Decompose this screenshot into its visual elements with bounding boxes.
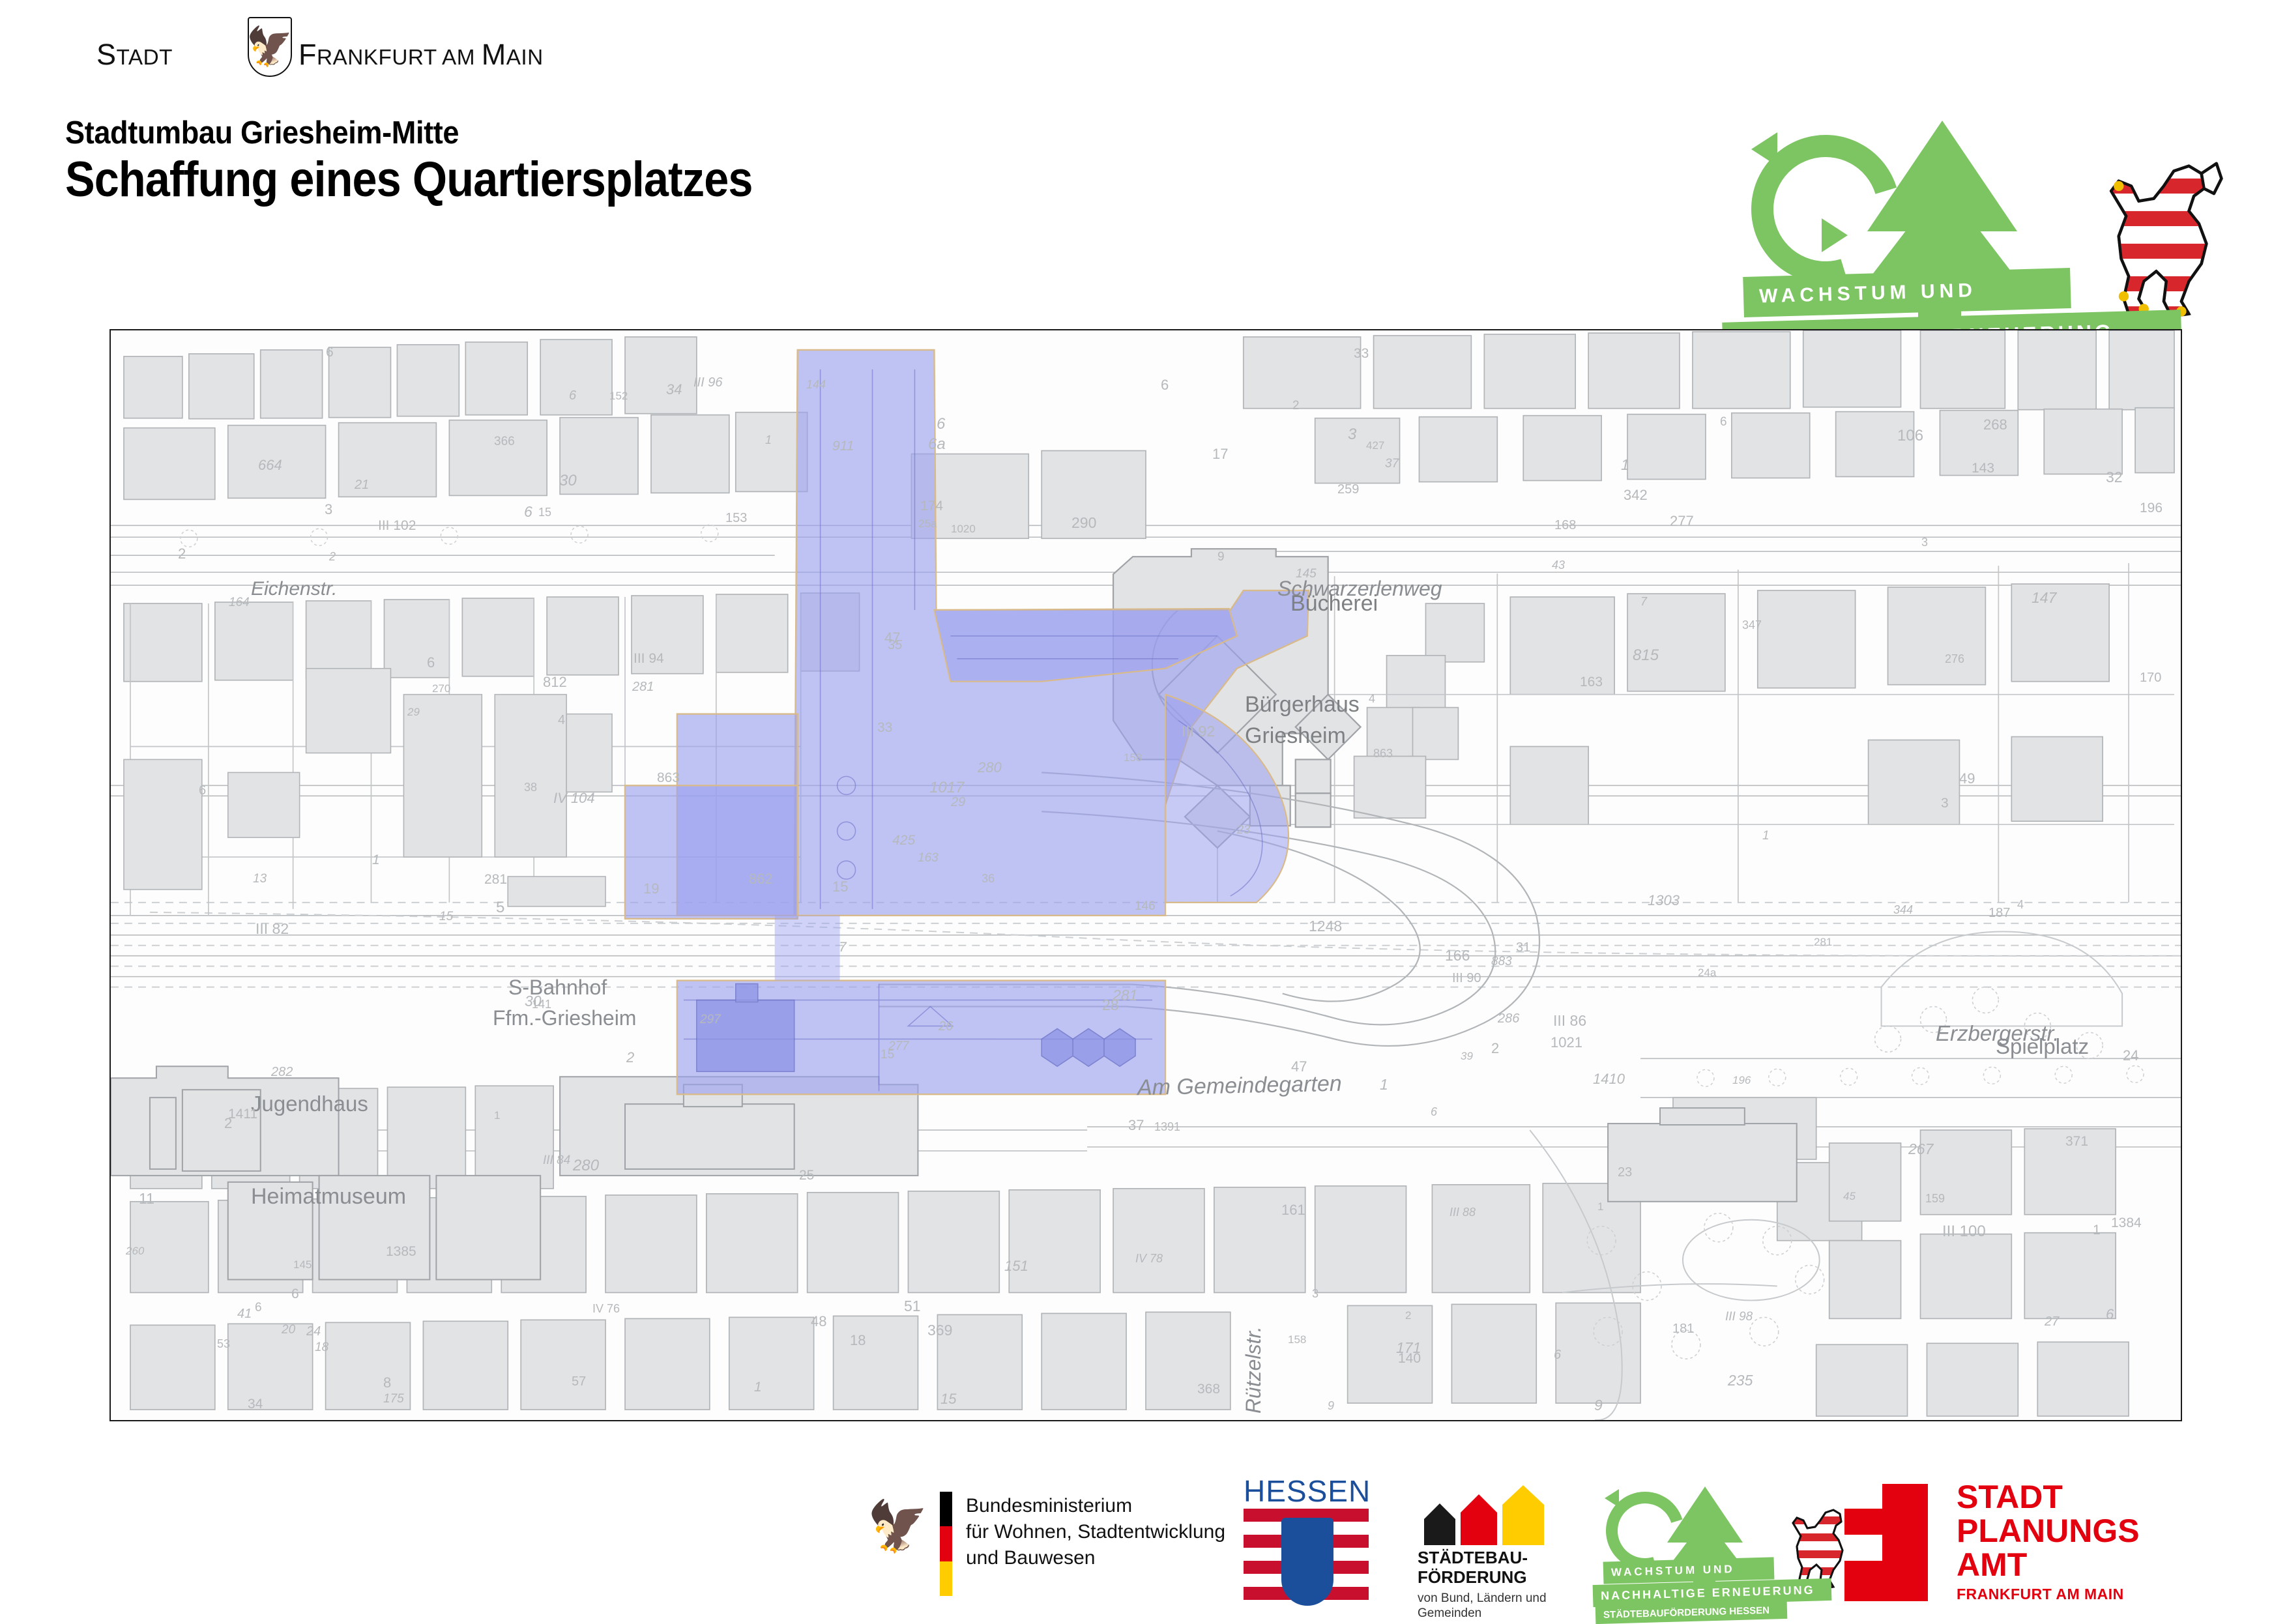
page-title: Schaffung eines Quartiersplatzes — [65, 151, 753, 208]
bundesadler-icon: 🦅 — [867, 1494, 925, 1559]
staedtebau-sub2: Gemeinden — [1418, 1606, 1481, 1620]
funding-logo-bar: 🦅 Bundesministerium für Wohnen, Stadtent… — [0, 1470, 2287, 1616]
city-of-frankfurt-logo: STADT 🦅 FRANKFURT AM MAIN — [96, 34, 514, 80]
stadtplanungsamt-logo: STADT PLANUNGS AMT FRANKFURT AM MAIN — [1844, 1483, 2183, 1606]
hessen-stripes-icon — [1244, 1509, 1369, 1613]
hessen-shield-icon — [1281, 1518, 1333, 1606]
frankfurt-eagle-crest-icon: 🦅 — [248, 17, 292, 77]
hessen-lion-icon — [2099, 161, 2229, 324]
stadtplanungsamt-line3: AMT — [1957, 1546, 2027, 1583]
staedtebau-line2: FÖRDERUNG — [1418, 1567, 1527, 1587]
stadtplanungsamt-line1: STADT — [1957, 1479, 2063, 1515]
growth-logo-line1: WACHSTUM UND — [1743, 268, 2071, 317]
stadtplanungsamt-mark-icon — [1844, 1484, 1928, 1601]
hessen-growth-logo-footer: WACHSTUM UND NACHHALTIGE ERNEUERUNG STÄD… — [1597, 1483, 1871, 1613]
stadtplanungsamt-sub: FRANKFURT AM MAIN — [1957, 1586, 2124, 1603]
recycle-arrow-tip-icon-footer — [1605, 1489, 1619, 1507]
staedtebau-sub1: von Bund, Ländern und — [1418, 1591, 1547, 1605]
map-canvas — [111, 330, 2181, 1420]
staedtebau-line1: STÄDTEBAU- — [1418, 1548, 1528, 1567]
cadastral-map[interactable]: Eichenstr. Schwarzerlenweg Am Gemeindega… — [109, 329, 2182, 1421]
recycle-arrow-tip2-icon — [1822, 218, 1848, 252]
hessen-state-logo: HESSEN — [1242, 1475, 1372, 1615]
hessen-wordmark: HESSEN — [1244, 1473, 1371, 1509]
bmwsb-line3: und Bauwesen — [966, 1547, 1096, 1569]
bmwsb-line1: Bundesministerium — [966, 1495, 1132, 1516]
german-flag-icon — [940, 1492, 952, 1596]
stadtplanungsamt-line2: PLANUNGS — [1957, 1513, 2140, 1549]
recycle-arrow-tip-icon — [1751, 132, 1777, 166]
page-subtitle: Stadtumbau Griesheim-Mitte — [65, 115, 459, 151]
stadtplanungsamt-name: STADT PLANUNGS AMT — [1957, 1480, 2140, 1582]
city-logo-text-left: STADT — [96, 38, 173, 72]
three-houses-icon — [1418, 1485, 1567, 1545]
bmwsb-line2: für Wohnen, Stadtentwicklung — [966, 1521, 1225, 1543]
bmwsb-text: Bundesministerium für Wohnen, Stadtentwi… — [966, 1493, 1225, 1571]
staedtebau-sub: von Bund, Ländern und Gemeinden — [1418, 1591, 1547, 1621]
bmwsb-logo: 🦅 Bundesministerium für Wohnen, Stadtent… — [867, 1483, 1232, 1606]
staedtebau-title: STÄDTEBAU- FÖRDERUNG — [1418, 1548, 1528, 1587]
city-logo-text-right: FRANKFURT AM MAIN — [299, 38, 544, 72]
